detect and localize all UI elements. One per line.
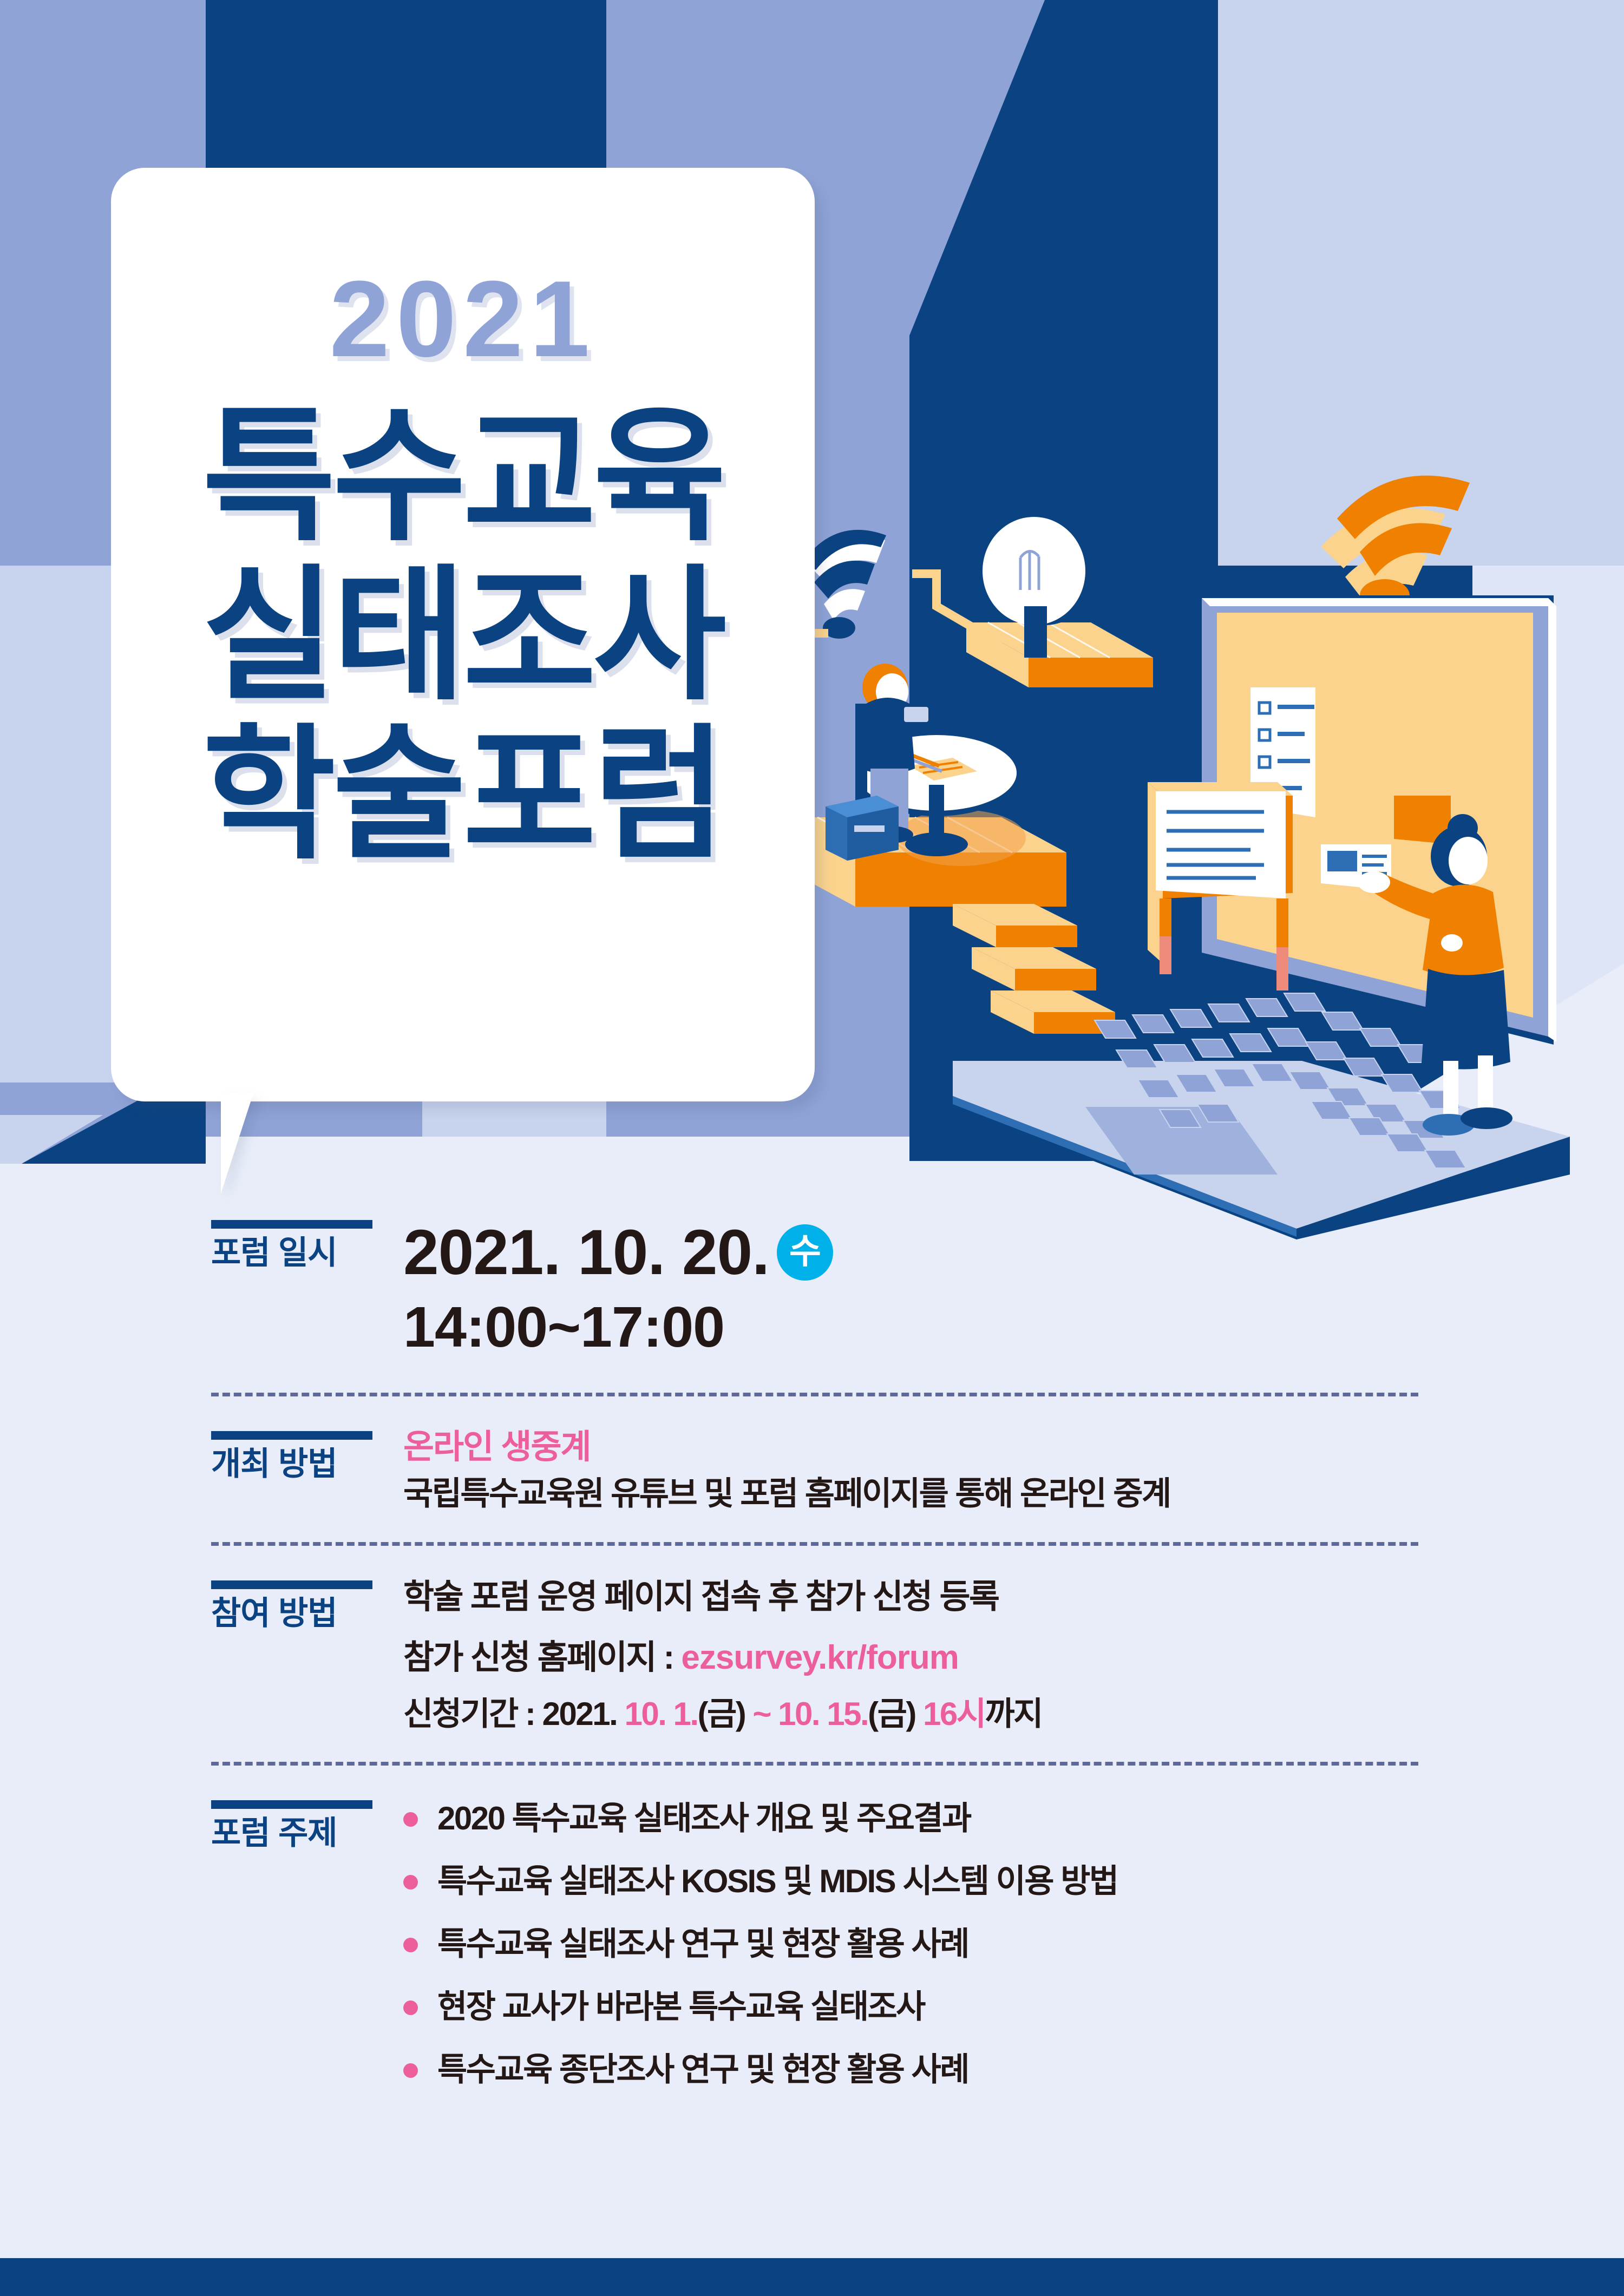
- bullet-dot-icon: [403, 1812, 418, 1827]
- label-text: 포럼 주제: [211, 1816, 390, 1850]
- topic-text: 특수교육 종단조사 연구 및 현장 활용 사례: [437, 2050, 968, 2089]
- period-start-weekday: (금): [698, 1696, 745, 1732]
- section-join-method: 참여 방법 학술 포럼 운영 페이지 접속 후 참가 신청 등록 참가 신청 홈…: [0, 1546, 1624, 1734]
- registration-url[interactable]: ezsurvey.kr/forum: [681, 1639, 959, 1676]
- year-label: 2021: [330, 265, 597, 373]
- period-start-date: 10. 1.: [617, 1696, 697, 1732]
- bottom-accent-bar: [0, 2258, 1624, 2296]
- poster-title-line-3: 학술포럼: [202, 718, 723, 871]
- period-end-date: 10. 15.: [778, 1696, 868, 1732]
- period-end-weekday: (금): [868, 1696, 915, 1732]
- wifi-icon-navy: [804, 530, 886, 639]
- topic-text: 특수교육 실태조사 KOSIS 및 MDIS 시스템 이용 방법: [437, 1862, 1118, 1901]
- topic-text: 2020 특수교육 실태조사 개요 및 주요결과: [437, 1799, 971, 1838]
- list-item: 특수교육 실태조사 KOSIS 및 MDIS 시스템 이용 방법: [403, 1862, 1624, 1901]
- topic-text: 현장 교사가 바라본 특수교육 실태조사: [437, 1987, 925, 2026]
- speech-bubble-tail: [221, 1093, 253, 1193]
- divider-2: [211, 1542, 1418, 1546]
- label-accent-bar: [211, 1580, 372, 1589]
- divider-3: [211, 1762, 1418, 1766]
- label-forum-topics: 포럼 주제: [211, 1797, 390, 1850]
- hold-method-highlight: 온라인 생중계: [403, 1428, 1624, 1466]
- list-item: 특수교육 실태조사 연구 및 현장 활용 사례: [403, 1925, 1624, 1964]
- period-tilde: ~: [745, 1696, 778, 1732]
- bullet-dot-icon: [403, 2000, 418, 2015]
- info-panel: 포럼 일시 2021. 10. 20. 수 14:00~17:00 개최 방법 …: [0, 1207, 1624, 2089]
- label-text: 참여 방법: [211, 1596, 390, 1630]
- label-hold-method: 개최 방법: [211, 1428, 390, 1481]
- forum-time-value: 14:00~17:00: [403, 1293, 1624, 1362]
- desk-platform: [790, 664, 1066, 907]
- poster-title-line-2: 실태조사: [202, 559, 723, 712]
- stairs: [953, 904, 1115, 1034]
- label-text: 개최 방법: [211, 1447, 390, 1481]
- weekday-badge: 수: [777, 1224, 833, 1281]
- join-step-text: 학술 포럼 운영 페이지 접속 후 참가 신청 등록: [403, 1577, 1624, 1617]
- forum-date-value: 2021. 10. 20. 수: [403, 1217, 1624, 1288]
- topic-list: 2020 특수교육 실태조사 개요 및 주요결과 특수교육 실태조사 KOSIS…: [403, 1799, 1624, 2089]
- section-hold-method: 개최 방법 온라인 생중계 국립특수교육원 유튜브 및 포럼 홈페이지를 통해 …: [0, 1396, 1624, 1513]
- label-join-method: 참여 방법: [211, 1577, 390, 1630]
- join-homepage-label: 참가 신청 홈페이지 :: [403, 1639, 681, 1676]
- topic-text: 특수교육 실태조사 연구 및 현장 활용 사례: [437, 1925, 968, 1964]
- date-text: 2021. 10. 20.: [403, 1217, 769, 1288]
- label-accent-bar: [211, 1800, 372, 1809]
- section-forum-topics: 포럼 주제 2020 특수교육 실태조사 개요 및 주요결과 특수교육 실태조사…: [0, 1766, 1624, 2089]
- label-accent-bar: [211, 1431, 372, 1440]
- list-item: 2020 특수교육 실태조사 개요 및 주요결과: [403, 1799, 1624, 1838]
- title-speech-bubble: 2021 특수교육 실태조사 학술포럼: [111, 168, 815, 1101]
- poster-title-line-1: 특수교육: [202, 399, 723, 553]
- list-item: 특수교육 종단조사 연구 및 현장 활용 사례: [403, 2050, 1624, 2089]
- section-forum-date: 포럼 일시 2021. 10. 20. 수 14:00~17:00: [0, 1207, 1624, 1362]
- hold-method-detail: 국립특수교육원 유튜브 및 포럼 홈페이지를 통해 온라인 중계: [403, 1473, 1624, 1514]
- label-text: 포럼 일시: [211, 1236, 390, 1270]
- bullet-dot-icon: [403, 1938, 418, 1952]
- bullet-dot-icon: [403, 2063, 418, 2078]
- period-deadline-hour: 16시: [915, 1696, 985, 1732]
- lightbulb-platform: [966, 517, 1153, 687]
- application-period-row: 신청기간 : 2021. 10. 1.(금) ~ 10. 15.(금) 16시까…: [403, 1695, 1624, 1734]
- divider-1: [211, 1393, 1418, 1396]
- label-forum-date: 포럼 일시: [211, 1217, 390, 1270]
- isometric-illustration: [774, 471, 1624, 1261]
- period-suffix: 까지: [985, 1696, 1042, 1732]
- join-homepage-row: 참가 신청 홈페이지 : ezsurvey.kr/forum: [403, 1638, 1624, 1678]
- label-accent-bar: [211, 1220, 372, 1229]
- list-item: 현장 교사가 바라본 특수교육 실태조사: [403, 1987, 1624, 2026]
- bullet-dot-icon: [403, 1875, 418, 1890]
- period-prefix: 신청기간 : 2021.: [403, 1696, 617, 1732]
